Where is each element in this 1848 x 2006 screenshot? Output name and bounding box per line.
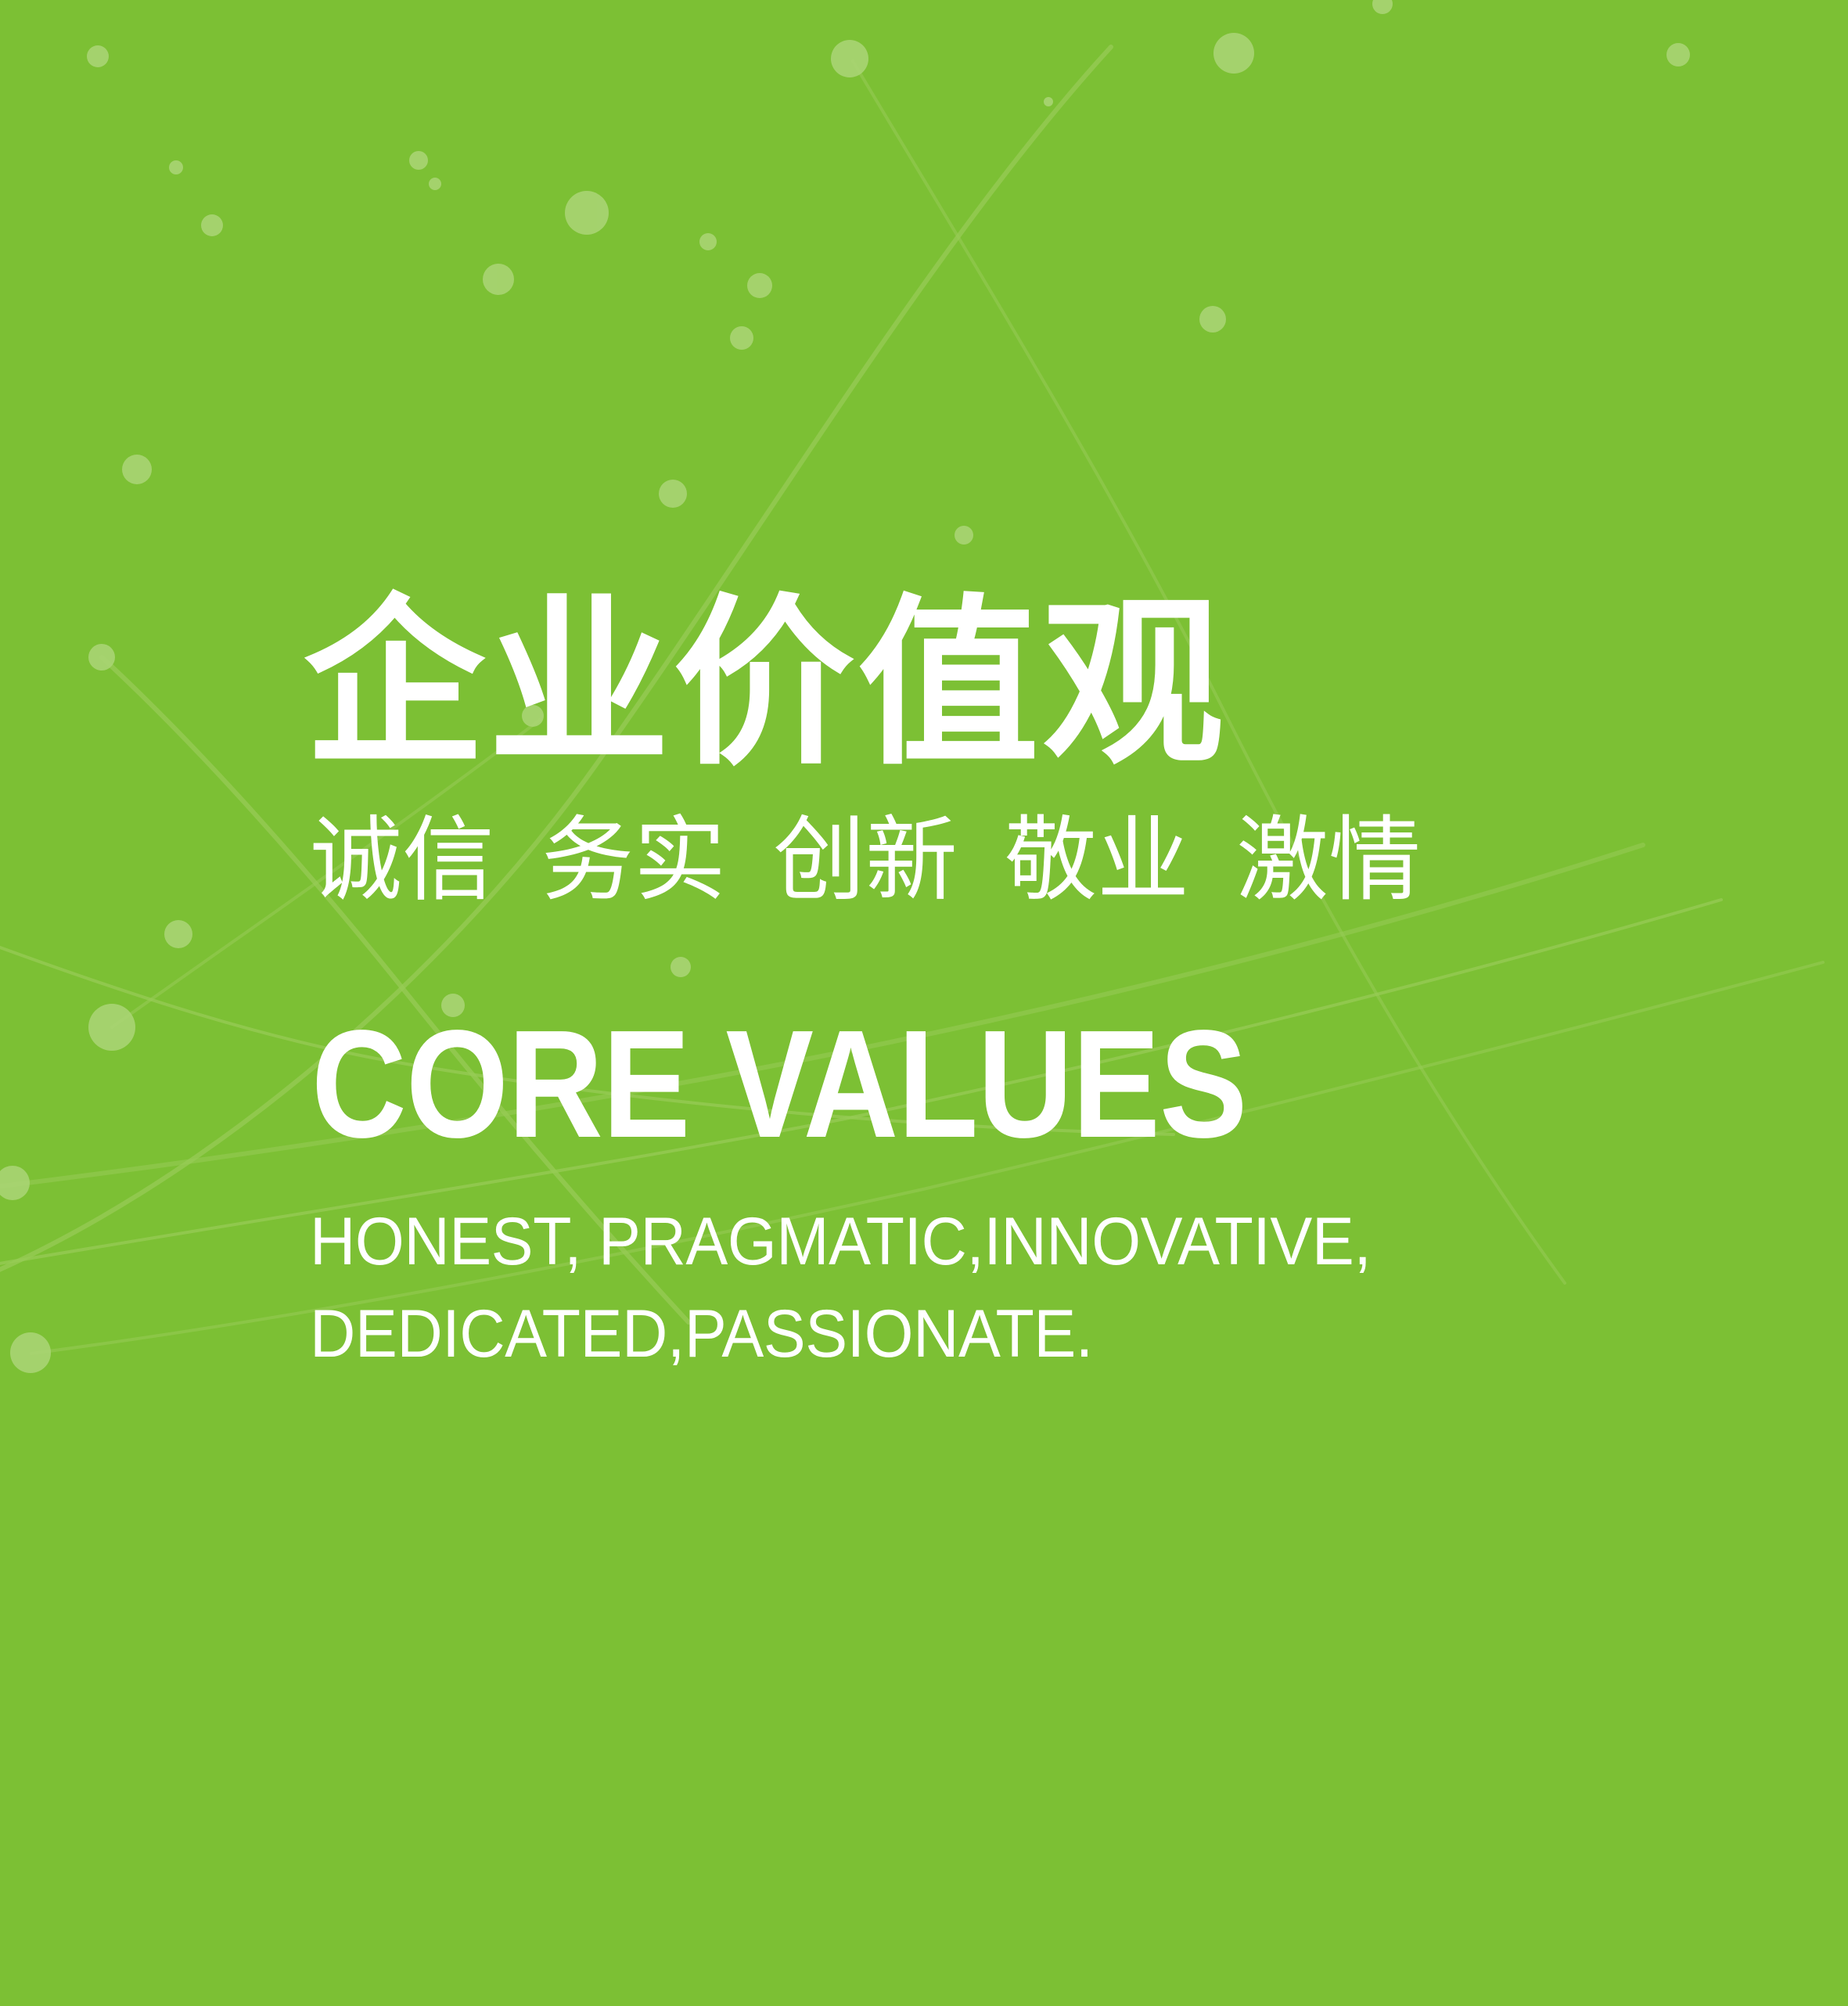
page-title-chinese: 企业价值观 xyxy=(304,583,1227,786)
value-chinese-4: 敬业 xyxy=(1005,806,1189,914)
core-values-poster: 企业价值观 诚信务实创新敬业激情 CORE VALUES HONEST, PRA… xyxy=(0,0,1848,2006)
poster-content: 企业价值观 诚信务实创新敬业激情 CORE VALUES HONEST, PRA… xyxy=(0,0,1848,2006)
value-chinese-5: 激情 xyxy=(1236,806,1421,914)
value-chinese-1: 诚信 xyxy=(310,806,494,914)
value-chinese-3: 创新 xyxy=(773,806,958,914)
core-values-chinese-list: 诚信务实创新敬业激情 xyxy=(310,800,1421,922)
body-line-2: DEDICATED,PASSIONATE. xyxy=(310,1288,1371,1380)
page-title-english: CORE VALUES xyxy=(311,1008,1247,1161)
body-line-1: HONEST, PRAGMATIC,INNOVATIVE, xyxy=(310,1195,1371,1288)
core-values-english-list: HONEST, PRAGMATIC,INNOVATIVE, DEDICATED,… xyxy=(310,1195,1371,1380)
value-chinese-2: 务实 xyxy=(541,806,726,914)
